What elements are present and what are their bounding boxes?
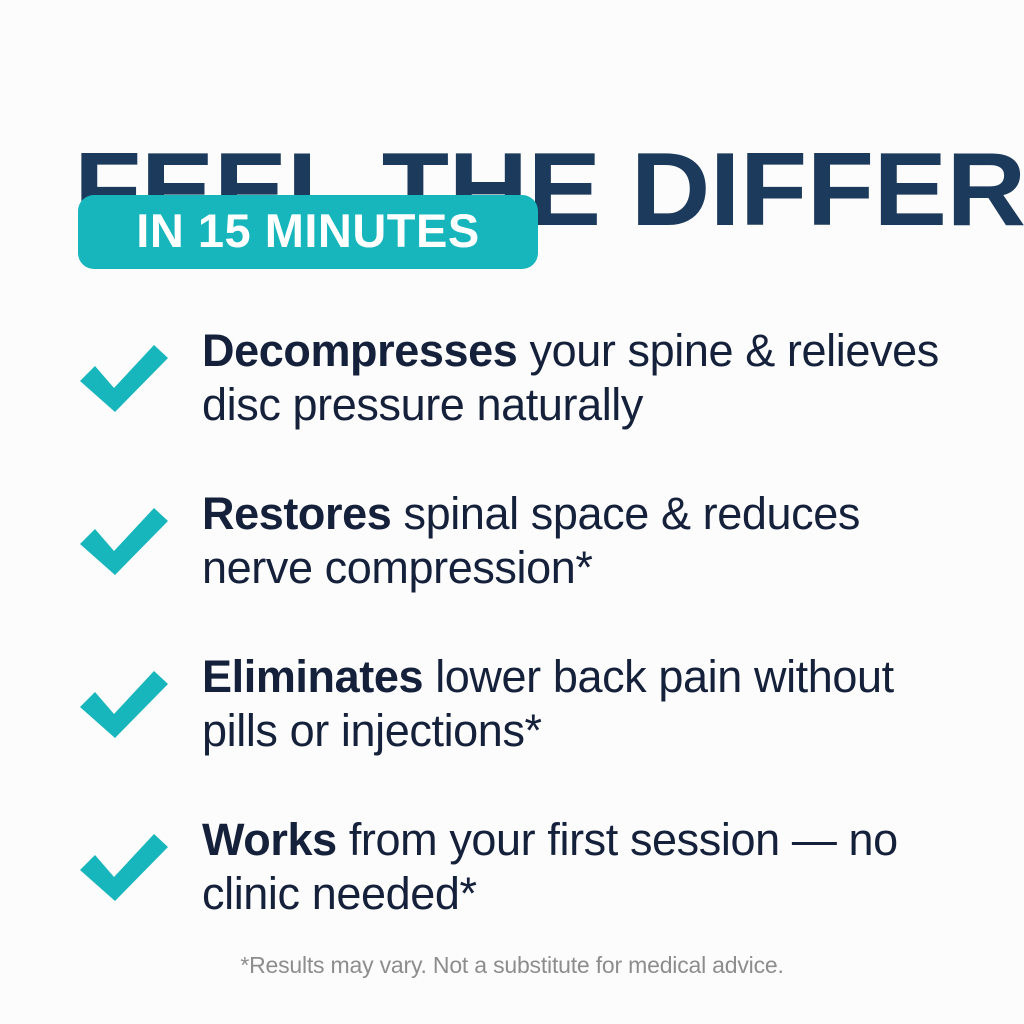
duration-badge-label: IN 15 MINUTES — [136, 207, 479, 257]
duration-badge: IN 15 MINUTES — [78, 195, 538, 269]
list-item-lead: Eliminates — [202, 651, 423, 702]
promo-poster: FEEL THE DIFFERENCE IN 15 MINUTES Decomp… — [0, 0, 1024, 1024]
list-item: Works from your first session — no clini… — [78, 811, 968, 922]
list-item-lead: Works — [202, 814, 337, 865]
list-item-text: Works from your first session — no clini… — [202, 811, 968, 922]
list-item: Eliminates lower back pain without pills… — [78, 648, 968, 759]
list-item: Restores spinal space & reduces nerve co… — [78, 485, 968, 596]
checkmark-icon — [78, 324, 174, 432]
checkmark-icon — [78, 813, 174, 921]
benefits-list: Decompresses your spine & relieves disc … — [78, 322, 968, 922]
list-item-lead: Decompresses — [202, 325, 517, 376]
list-item: Decompresses your spine & relieves disc … — [78, 322, 968, 433]
disclaimer-text: *Results may vary. Not a substitute for … — [0, 952, 1024, 979]
list-item-lead: Restores — [202, 488, 391, 539]
list-item-text: Decompresses your spine & relieves disc … — [202, 322, 968, 433]
list-item-text: Eliminates lower back pain without pills… — [202, 648, 968, 759]
list-item-text: Restores spinal space & reduces nerve co… — [202, 485, 968, 596]
checkmark-icon — [78, 487, 174, 595]
checkmark-icon — [78, 650, 174, 758]
